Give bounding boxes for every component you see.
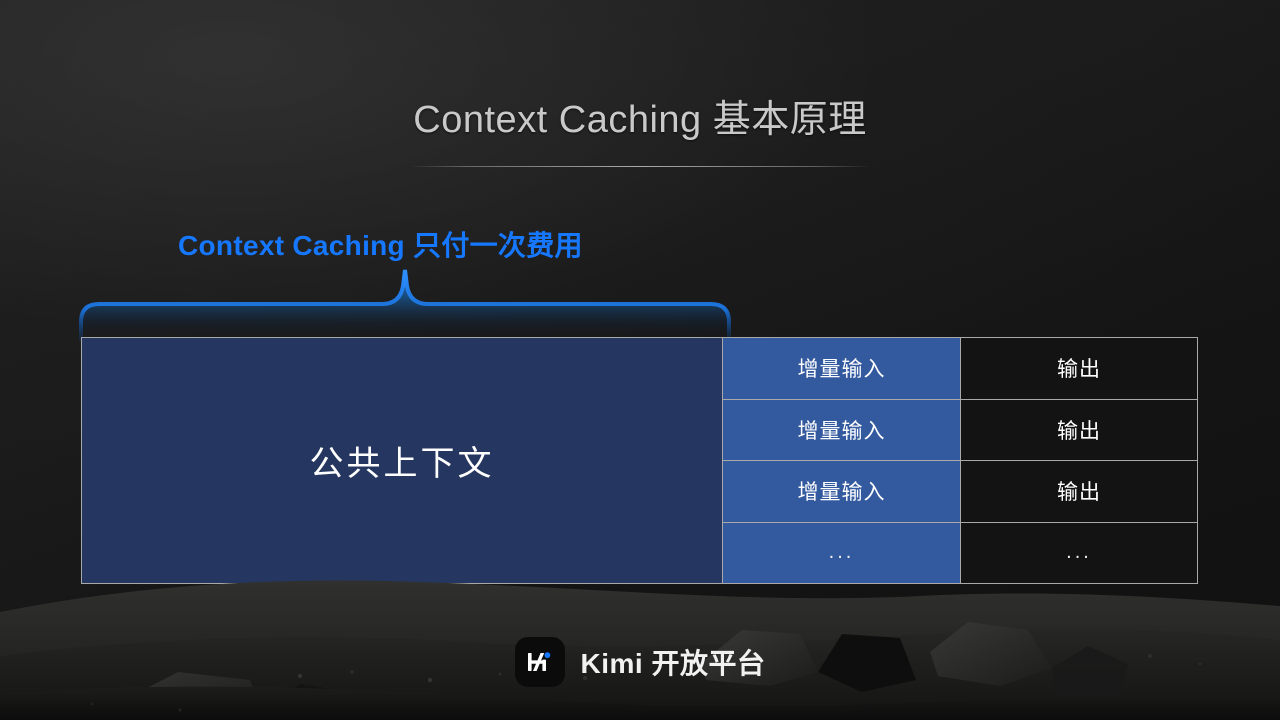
incremental-input-label: 增量输入 — [798, 476, 886, 506]
context-cell: 公共上下文 — [82, 338, 723, 583]
output-label: 输出 — [1057, 353, 1101, 383]
output-label: 输出 — [1057, 476, 1101, 506]
incremental-input-cell: 增量输入 — [723, 338, 961, 399]
incremental-input-label: 增量输入 — [798, 353, 886, 383]
title-divider — [412, 166, 868, 167]
context-cell-label: 公共上下文 — [310, 436, 495, 485]
incremental-input-cell: 增量输入 — [723, 400, 961, 461]
output-cell: 输出 — [961, 400, 1197, 461]
curly-brace-top — [70, 262, 740, 342]
incremental-input-label: 增量输入 — [798, 415, 886, 445]
table-row: 增量输入 输出 — [723, 400, 1197, 462]
annotation-label: Context Caching 只付一次费用 — [178, 224, 583, 264]
brand-name: Kimi 开放平台 — [581, 642, 766, 682]
output-cell: 输出 — [961, 338, 1197, 399]
output-label: 输出 — [1057, 415, 1101, 445]
table-row: 增量输入 输出 — [723, 338, 1197, 400]
footer-brand: Kimi 开放平台 — [0, 637, 1280, 687]
kimi-logo-icon — [515, 637, 565, 687]
incremental-input-cell: 增量输入 — [723, 461, 961, 522]
table-row: 增量输入 输出 — [723, 461, 1197, 523]
request-rows: 增量输入 输出 增量输入 输出 增量输入 输出 — [723, 338, 1197, 583]
page-title: Context Caching 基本原理 — [0, 88, 1280, 143]
caching-diagram-table: 公共上下文 增量输入 输出 增量输入 输出 增量 — [81, 337, 1198, 584]
slide-canvas: Context Caching 基本原理 Context Caching 只付一… — [0, 0, 1280, 720]
output-cell: 输出 — [961, 461, 1197, 522]
